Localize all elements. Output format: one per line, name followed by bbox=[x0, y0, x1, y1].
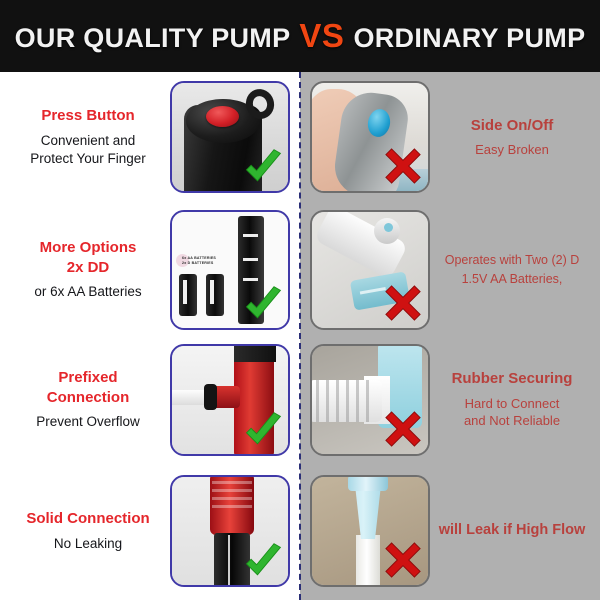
left-column-quality-pump: Press Button Convenient and Protect Your… bbox=[0, 72, 300, 600]
right-row-2-body-line2: 1.5V AA Batteries, bbox=[430, 270, 594, 288]
left-row-prefixed-connection: Prefixed Connection Prevent Overflow bbox=[0, 337, 300, 462]
right-row-1-text: Side On/Off Easy Broken bbox=[430, 116, 594, 159]
right-row-1-photo-card bbox=[310, 81, 430, 193]
cross-mark-icon bbox=[384, 147, 422, 185]
header-vs-label: VS bbox=[299, 17, 344, 55]
left-row-2-photo-card: 6x AA BATTERIES 2x D BATTERIES bbox=[170, 210, 290, 330]
left-row-2-heading: More Options 2x DD bbox=[6, 238, 170, 278]
left-row-2-heading-line2: 2x DD bbox=[6, 258, 170, 278]
left-row-3-photo-card bbox=[170, 344, 290, 456]
left-row-solid-connection: Solid Connection No Leaking bbox=[0, 462, 300, 600]
right-row-rubber-securing: Rubber Securing Hard to Connect and Not … bbox=[300, 337, 600, 462]
right-row-side-onoff: Side On/Off Easy Broken bbox=[300, 72, 600, 202]
left-row-4-text: Solid Connection No Leaking bbox=[6, 509, 170, 553]
cross-mark-icon bbox=[384, 284, 422, 322]
right-row-3-body-line1: Hard to Connect bbox=[430, 395, 594, 412]
column-divider bbox=[299, 72, 301, 600]
left-row-1-heading: Press Button bbox=[6, 106, 170, 126]
right-row-2-photo-card bbox=[310, 210, 430, 330]
battery-inline-label: 6x AA BATTERIES 2x D BATTERIES bbox=[182, 256, 216, 267]
left-row-3-heading-line1: Prefixed bbox=[6, 368, 170, 388]
right-row-3-heading: Rubber Securing bbox=[430, 369, 594, 389]
right-row-high-flow-leak: will Leak if High Flow bbox=[300, 462, 600, 600]
left-row-2-body-line1: or 6x AA Batteries bbox=[6, 283, 170, 301]
right-row-2-body-line1: Operates with Two (2) D bbox=[430, 251, 594, 269]
left-row-more-options: More Options 2x DD or 6x AA Batteries 6x… bbox=[0, 202, 300, 337]
right-row-2-text: Operates with Two (2) D 1.5V AA Batterie… bbox=[430, 251, 594, 287]
right-row-4-heading: will Leak if High Flow bbox=[430, 521, 594, 540]
right-row-1-heading: Side On/Off bbox=[430, 116, 594, 136]
check-mark-icon bbox=[241, 146, 285, 190]
left-row-4-heading: Solid Connection bbox=[6, 509, 170, 529]
right-row-3-body-line2: and Not Reliable bbox=[430, 412, 594, 429]
cross-mark-icon bbox=[384, 541, 422, 579]
header-right-title: ORDINARY PUMP bbox=[353, 23, 585, 54]
left-row-1-photo-card bbox=[170, 81, 290, 193]
check-mark-icon bbox=[241, 540, 285, 584]
left-row-4-body-line1: No Leaking bbox=[6, 535, 170, 553]
left-row-press-button: Press Button Convenient and Protect Your… bbox=[0, 72, 300, 202]
left-row-3-body-line1: Prevent Overflow bbox=[6, 413, 170, 431]
left-row-3-heading: Prefixed Connection bbox=[6, 368, 170, 408]
right-row-3-text: Rubber Securing Hard to Connect and Not … bbox=[430, 369, 594, 429]
battery-inline-label-line2: 2x D BATTERIES bbox=[182, 261, 216, 266]
comparison-infographic: OUR QUALITY PUMP VS ORDINARY PUMP Press … bbox=[0, 0, 600, 600]
right-row-4-text: will Leak if High Flow bbox=[430, 521, 594, 540]
right-row-1-body-line1: Easy Broken bbox=[430, 141, 594, 158]
left-row-2-text: More Options 2x DD or 6x AA Batteries bbox=[6, 238, 170, 301]
cross-mark-icon bbox=[384, 410, 422, 448]
left-row-3-heading-line2: Connection bbox=[6, 388, 170, 408]
left-row-4-photo-card bbox=[170, 475, 290, 587]
left-row-1-body-line1: Convenient and bbox=[6, 132, 170, 150]
header-banner: OUR QUALITY PUMP VS ORDINARY PUMP bbox=[0, 0, 600, 72]
left-row-3-text: Prefixed Connection Prevent Overflow bbox=[6, 368, 170, 431]
right-column-ordinary-pump: Side On/Off Easy Broken Operates with Tw… bbox=[300, 72, 600, 600]
right-row-3-photo-card bbox=[310, 344, 430, 456]
right-row-4-photo-card bbox=[310, 475, 430, 587]
check-mark-icon bbox=[241, 283, 285, 327]
left-row-1-body-line2: Protect Your Finger bbox=[6, 150, 170, 168]
left-row-1-text: Press Button Convenient and Protect Your… bbox=[6, 106, 170, 167]
header-title-group: OUR QUALITY PUMP VS ORDINARY PUMP bbox=[15, 17, 586, 55]
check-mark-icon bbox=[241, 409, 285, 453]
header-left-title: OUR QUALITY PUMP bbox=[15, 23, 291, 54]
right-row-battery-spec: Operates with Two (2) D 1.5V AA Batterie… bbox=[300, 202, 600, 337]
left-row-2-heading-line1: More Options bbox=[6, 238, 170, 258]
